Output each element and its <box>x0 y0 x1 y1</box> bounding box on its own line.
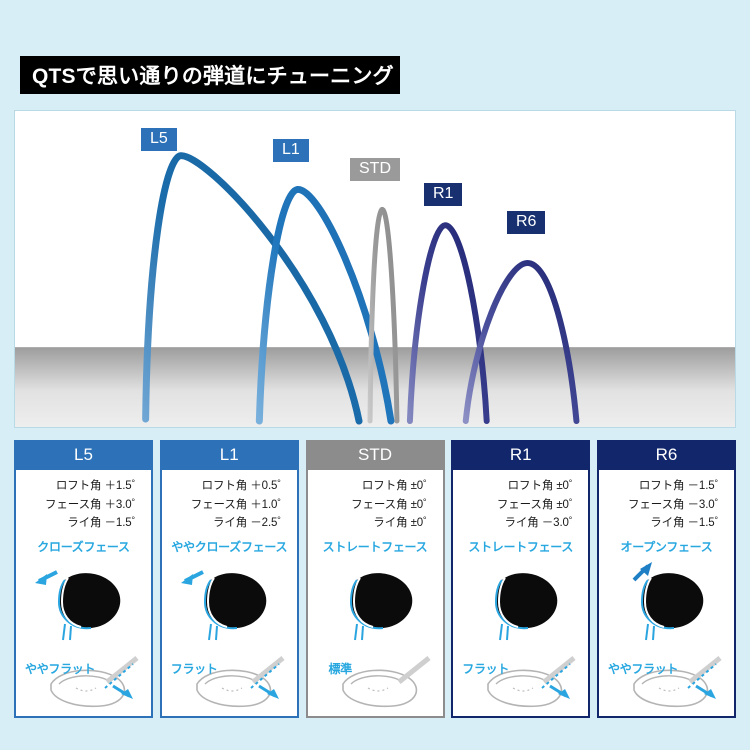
spec-cards-row: L5 ロフト角 ＋1.5゜ フェース角 ＋3.0゜ ライ角 －1.5゜ クローズ… <box>14 440 736 706</box>
spec-card-R1[interactable]: R1 ロフト角 ±0゜ フェース角 ±0゜ ライ角 －3.0゜ ストレートフェー… <box>451 440 590 706</box>
face-type-label-R1: ストレートフェース <box>468 538 573 555</box>
trajectory-label-L1: L1 <box>273 139 309 162</box>
trajectory-label-R1: R1 <box>424 183 462 206</box>
driver-head-icon <box>604 556 729 642</box>
page-title-banner: QTSで思い通りの弾道にチューニング <box>20 56 400 94</box>
spec-list-R1: ロフト角 ±0゜ フェース角 ±0゜ ライ角 －3.0゜ <box>453 477 588 533</box>
trajectory-label-L5: L5 <box>141 128 177 151</box>
trajectory-label-R6: R6 <box>507 211 545 234</box>
spec-lie-STD: ライ角 ±0゜ <box>308 514 435 533</box>
lie-angle-figure-R6: ややフラット <box>604 644 729 716</box>
card-body-L5: ロフト角 ＋1.5゜ フェース角 ＋3.0゜ ライ角 －1.5゜ クローズフェー… <box>14 470 153 718</box>
card-header-L5: L5 <box>14 440 153 470</box>
face-type-label-L5: クローズフェース <box>37 538 129 555</box>
spec-lie-R6: ライ角 －1.5゜ <box>599 514 726 533</box>
lie-angle-icon <box>167 644 292 716</box>
lie-angle-icon <box>458 644 583 716</box>
spec-face-STD: フェース角 ±0゜ <box>308 496 435 515</box>
spec-face-L1: フェース角 ＋1.0゜ <box>162 496 289 515</box>
card-body-L1: ロフト角 ＋0.5゜ フェース角 ＋1.0゜ ライ角 －2.5゜ ややクローズフ… <box>160 470 299 718</box>
lie-angle-figure-L1: フラット <box>167 644 292 716</box>
spec-list-STD: ロフト角 ±0゜ フェース角 ±0゜ ライ角 ±0゜ <box>308 477 443 533</box>
driver-head-icon <box>21 556 146 642</box>
driver-head-icon <box>167 556 292 642</box>
spec-lie-R1: ライ角 －3.0゜ <box>453 514 580 533</box>
lie-type-label-R6: ややフラット <box>608 660 678 677</box>
face-type-label-R6: オープンフェース <box>621 538 713 555</box>
lie-type-label-R1: フラット <box>462 660 509 677</box>
lie-type-label-L5: ややフラット <box>25 660 95 677</box>
lie-angle-figure-L5: ややフラット <box>21 644 146 716</box>
lie-angle-figure-STD: 標準 <box>313 644 438 716</box>
spec-list-R6: ロフト角 －1.5゜ フェース角 －3.0゜ ライ角 －1.5゜ <box>599 477 734 533</box>
spec-face-R1: フェース角 ±0゜ <box>453 496 580 515</box>
spec-card-STD[interactable]: STD ロフト角 ±0゜ フェース角 ±0゜ ライ角 ±0゜ ストレートフェース <box>306 440 445 706</box>
driver-head-icon <box>313 556 438 642</box>
lie-angle-icon <box>21 644 146 716</box>
spec-lie-L1: ライ角 －2.5゜ <box>162 514 289 533</box>
lie-angle-figure-R1: フラット <box>458 644 583 716</box>
trajectory-chart-panel: L5 L1 STD R1 R6 <box>14 110 736 428</box>
spec-loft-STD: ロフト角 ±0゜ <box>308 477 435 496</box>
spec-loft-L1: ロフト角 ＋0.5゜ <box>162 477 289 496</box>
face-type-label-STD: ストレートフェース <box>323 538 428 555</box>
trajectory-label-STD: STD <box>350 158 400 181</box>
driver-head-icon <box>458 556 583 642</box>
face-type-label-L1: ややクローズフェース <box>171 538 287 555</box>
spec-card-R6[interactable]: R6 ロフト角 －1.5゜ フェース角 －3.0゜ ライ角 －1.5゜ オープン… <box>597 440 736 706</box>
card-header-STD: STD <box>306 440 445 470</box>
spec-loft-L5: ロフト角 ＋1.5゜ <box>16 477 143 496</box>
spec-lie-L5: ライ角 －1.5゜ <box>16 514 143 533</box>
spec-list-L1: ロフト角 ＋0.5゜ フェース角 ＋1.0゜ ライ角 －2.5゜ <box>162 477 297 533</box>
spec-face-L5: フェース角 ＋3.0゜ <box>16 496 143 515</box>
spec-card-L5[interactable]: L5 ロフト角 ＋1.5゜ フェース角 ＋3.0゜ ライ角 －1.5゜ クローズ… <box>14 440 153 706</box>
lie-type-label-STD: 標準 <box>329 660 352 677</box>
lie-type-label-L1: フラット <box>171 660 218 677</box>
card-body-R6: ロフト角 －1.5゜ フェース角 －3.0゜ ライ角 －1.5゜ オープンフェー… <box>597 470 736 718</box>
driver-head-figure-R1 <box>458 556 583 642</box>
driver-head-figure-L5 <box>21 556 146 642</box>
driver-head-figure-STD <box>313 556 438 642</box>
card-header-R6: R6 <box>597 440 736 470</box>
driver-head-figure-L1 <box>167 556 292 642</box>
spec-list-L5: ロフト角 ＋1.5゜ フェース角 ＋3.0゜ ライ角 －1.5゜ <box>16 477 151 533</box>
page-title: QTSで思い通りの弾道にチューニング <box>32 60 394 90</box>
spec-face-R6: フェース角 －3.0゜ <box>599 496 726 515</box>
spec-card-L1[interactable]: L1 ロフト角 ＋0.5゜ フェース角 ＋1.0゜ ライ角 －2.5゜ ややクロ… <box>160 440 299 706</box>
spec-loft-R6: ロフト角 －1.5゜ <box>599 477 726 496</box>
card-body-STD: ロフト角 ±0゜ フェース角 ±0゜ ライ角 ±0゜ ストレートフェース <box>306 470 445 718</box>
lie-angle-icon <box>604 644 729 716</box>
driver-head-figure-R6 <box>604 556 729 642</box>
spec-loft-R1: ロフト角 ±0゜ <box>453 477 580 496</box>
lie-angle-icon <box>313 644 438 716</box>
card-header-R1: R1 <box>451 440 590 470</box>
card-header-L1: L1 <box>160 440 299 470</box>
card-body-R1: ロフト角 ±0゜ フェース角 ±0゜ ライ角 －3.0゜ ストレートフェース <box>451 470 590 718</box>
